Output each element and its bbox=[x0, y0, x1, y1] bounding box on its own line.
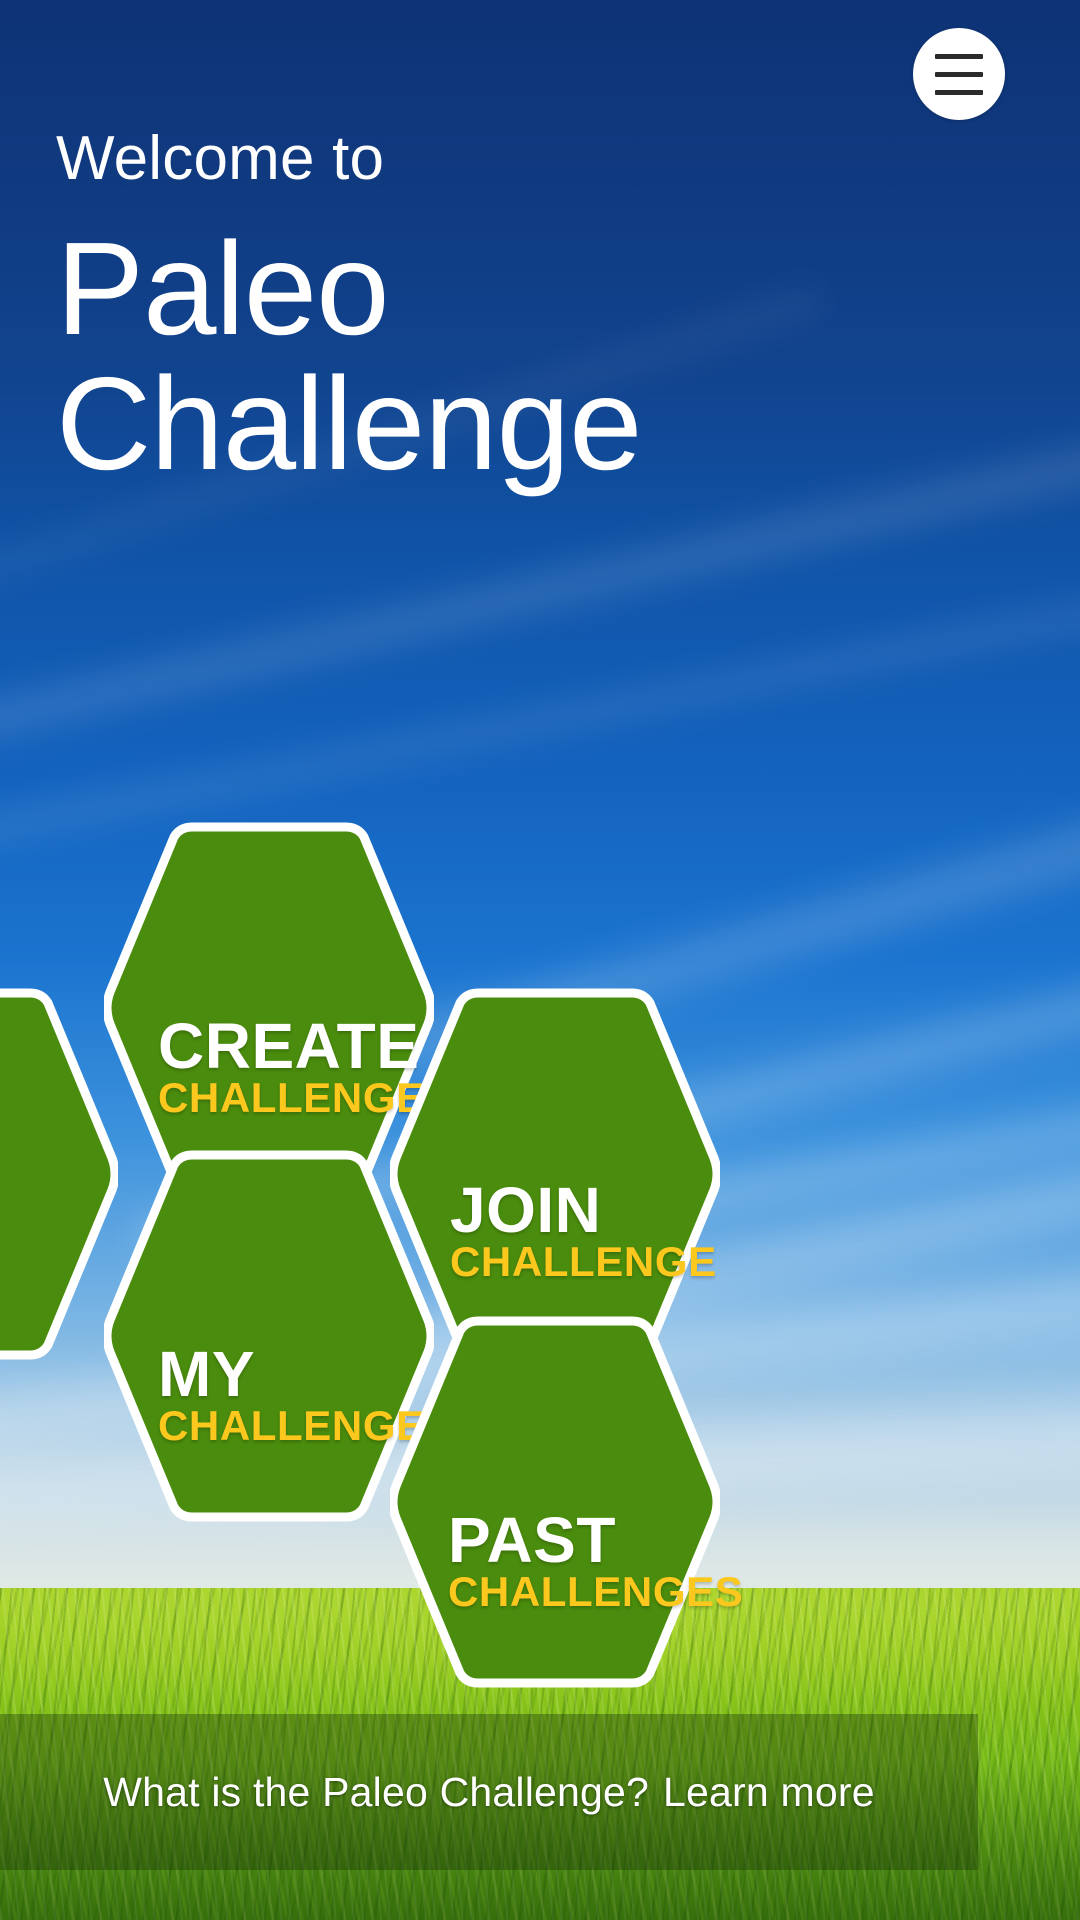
hexagon-shape bbox=[104, 1146, 434, 1526]
hexagon-button-join-challenge[interactable]: JOIN CHALLENGE bbox=[390, 984, 720, 1364]
hexagon-shape bbox=[104, 818, 434, 1198]
hexagon-button-my-challenge[interactable]: MY CHALLENGE bbox=[104, 1146, 434, 1526]
learn-more-link[interactable]: Learn more bbox=[663, 1769, 875, 1816]
brand-line-1: Paleo bbox=[56, 215, 389, 362]
hexagon-shape bbox=[390, 984, 720, 1364]
hexagon-button-partial[interactable] bbox=[0, 984, 118, 1364]
hexagon-shape bbox=[0, 984, 118, 1364]
hamburger-menu-icon-bar-1 bbox=[935, 54, 983, 59]
hamburger-menu-icon-bar-3 bbox=[935, 90, 983, 95]
learn-more-question: What is the Paleo Challenge? bbox=[103, 1769, 649, 1816]
page-title: Paleo Challenge bbox=[56, 222, 876, 491]
welcome-text: Welcome to bbox=[56, 128, 876, 190]
hero-title-block: Welcome to Paleo Challenge bbox=[56, 128, 876, 491]
hamburger-menu-button[interactable] bbox=[913, 28, 1005, 120]
learn-more-bar[interactable]: What is the Paleo Challenge? Learn more bbox=[0, 1714, 978, 1870]
app-screen: Welcome to Paleo Challenge CREATE CHALLE bbox=[0, 0, 1080, 1920]
hexagon-button-past-challenges[interactable]: PAST CHALLENGES bbox=[390, 1312, 720, 1692]
brand-line-2: Challenge bbox=[56, 357, 876, 492]
hamburger-menu-icon-bar-2 bbox=[935, 72, 983, 77]
hexagon-button-create-challenge[interactable]: CREATE CHALLENGE bbox=[104, 818, 434, 1198]
hexagon-shape bbox=[390, 1312, 720, 1692]
